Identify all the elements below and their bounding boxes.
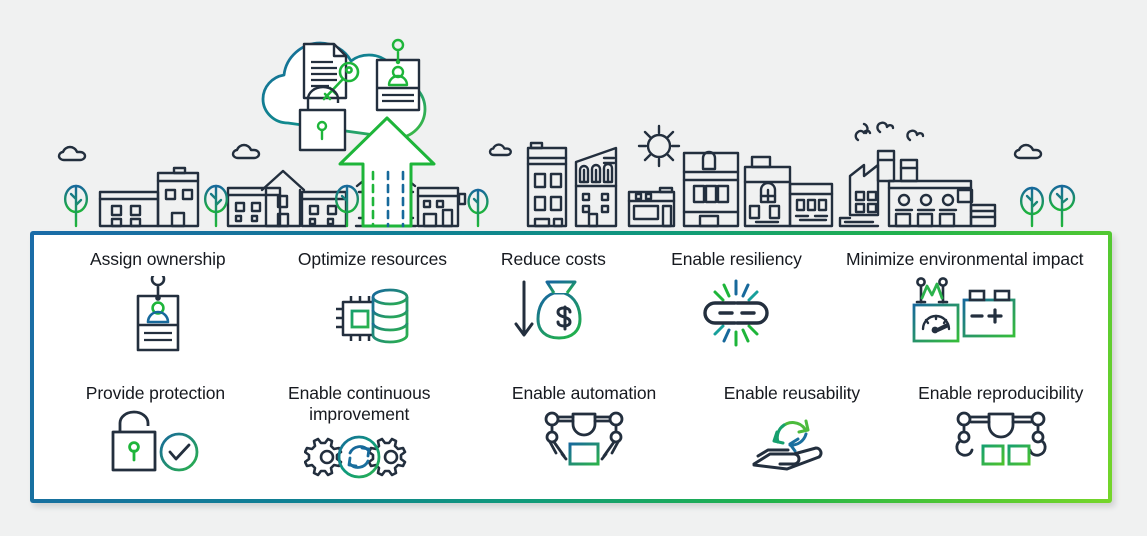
robot-arm-icon	[540, 410, 628, 472]
building-icon	[576, 148, 616, 226]
benefit-label: Provide protection	[86, 383, 225, 404]
benefit-label: Optimize resources	[298, 249, 447, 270]
benefit-label: Enable reproducibility	[918, 383, 1083, 404]
padlock-check-icon	[107, 410, 203, 476]
factory-icon	[877, 123, 995, 226]
building-icon	[418, 188, 465, 226]
small-cloud-icon	[59, 147, 85, 160]
benefit-minimize-environmental-impact: Minimize environmental impact	[821, 249, 1108, 356]
recycle-hand-icon	[748, 410, 836, 472]
benefit-label: Minimize environmental impact	[846, 249, 1083, 270]
house-icon	[262, 171, 304, 226]
robot-arms-duplicate-icon	[949, 410, 1053, 472]
benefit-enable-resiliency: Enable resiliency	[651, 249, 821, 356]
building-icon	[100, 192, 158, 226]
cityscape-illustration	[0, 0, 1147, 250]
benefits-panel: Assign ownership	[30, 231, 1112, 503]
benefit-enable-automation: Enable automation	[490, 383, 679, 485]
tree-icon	[65, 186, 1074, 226]
benefit-assign-ownership: Assign ownership	[56, 249, 260, 356]
benefit-reduce-costs: Reduce costs	[479, 249, 627, 356]
building-icon	[684, 152, 738, 226]
small-cloud-icon	[490, 145, 511, 155]
benefit-enable-continuous-improvement: Enable continuous improvement	[269, 383, 450, 485]
benefit-label: Assign ownership	[90, 249, 226, 270]
benefit-label: Enable reusability	[724, 383, 860, 404]
building-icon	[629, 188, 674, 226]
benefit-label: Enable continuous improvement	[288, 383, 430, 425]
building-icon	[228, 188, 280, 226]
benefit-label: Reduce costs	[501, 249, 606, 270]
building-icon	[790, 184, 832, 226]
benefit-label: Enable resiliency	[671, 249, 802, 270]
building-icon	[528, 143, 566, 226]
gears-refresh-icon	[304, 429, 414, 485]
benefits-row-1: Assign ownership	[34, 249, 1108, 356]
sun-icon	[639, 126, 679, 166]
benefit-enable-reusability: Enable reusability	[704, 383, 879, 485]
infographic-canvas: Assign ownership	[0, 0, 1147, 536]
small-cloud-icon	[1015, 145, 1041, 158]
gauge-battery-icon	[910, 276, 1020, 350]
broken-chain-link-icon	[690, 276, 782, 350]
benefit-enable-reproducibility: Enable reproducibility	[893, 383, 1108, 485]
factory-icon	[840, 124, 878, 226]
building-icon	[745, 157, 790, 226]
benefits-row-2: Provide protection	[34, 383, 1108, 485]
benefit-provide-protection: Provide protection	[58, 383, 253, 485]
building-icon	[158, 168, 198, 226]
small-cloud-icon	[233, 145, 259, 158]
benefit-optimize-resources: Optimize resources	[274, 249, 472, 356]
benefit-label: Enable automation	[512, 383, 656, 404]
chip-database-icon	[329, 276, 415, 354]
id-badge-icon	[123, 276, 193, 356]
money-bag-down-arrow-icon	[510, 276, 596, 350]
